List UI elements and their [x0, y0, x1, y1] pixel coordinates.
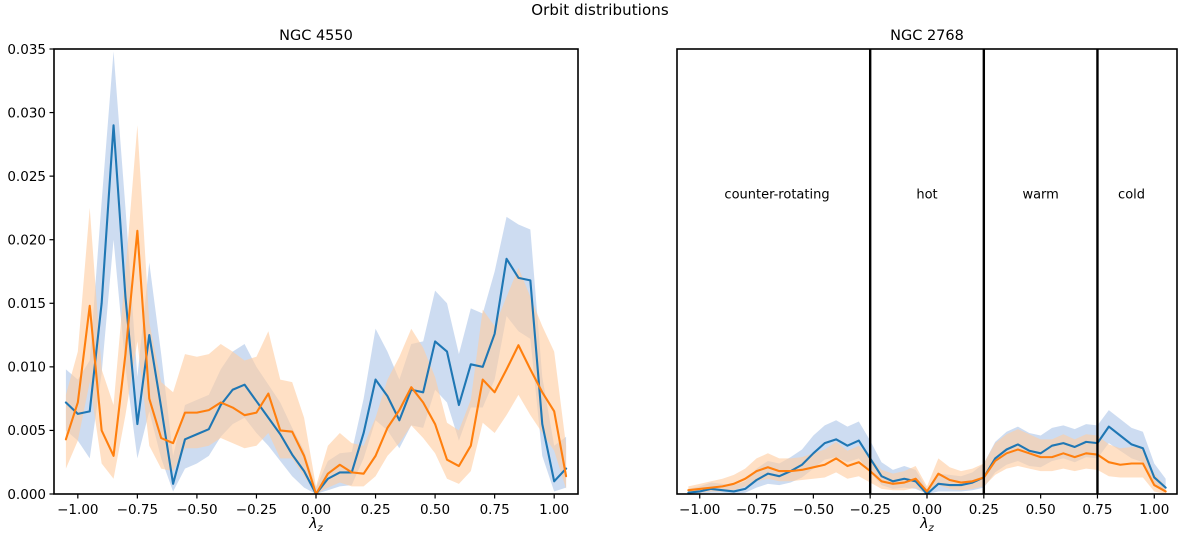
- plot-canvas: −1.00−0.75−0.50−0.250.000.250.500.751.00…: [0, 0, 1200, 541]
- panel-title-left: NGC 4550: [54, 28, 578, 44]
- figure-suptitle: Orbit distributions: [0, 1, 1200, 19]
- panel-left: −1.00−0.75−0.50−0.250.000.250.500.751.00…: [7, 42, 578, 518]
- x-axis-label-right: λz: [677, 516, 1177, 534]
- y-tick-label-6: 0.030: [7, 105, 46, 121]
- figure-orbit-distributions: Orbit distributions NGC 4550 NGC 2768 λz…: [0, 0, 1200, 541]
- y-tick-label-4: 0.020: [7, 233, 46, 249]
- panel-data-left: [66, 52, 566, 494]
- x-axis-label-left: λz: [54, 516, 578, 534]
- panel-right: counter-rotatinghotwarmcold−1.00−0.75−0.…: [677, 49, 1177, 518]
- y-tick-label-5: 0.025: [7, 169, 46, 185]
- y-tick-label-0: 0.000: [7, 487, 46, 503]
- y-tick-label-7: 0.035: [7, 42, 46, 58]
- y-tick-label-1: 0.005: [7, 423, 46, 439]
- region-label-cold: cold: [1118, 188, 1145, 203]
- panel-data-right: counter-rotatinghotwarmcold: [688, 49, 1165, 494]
- panel-title-right: NGC 2768: [677, 28, 1177, 44]
- region-label-warm: warm: [1022, 188, 1058, 203]
- region-label-hot: hot: [916, 188, 937, 203]
- y-tick-label-3: 0.015: [7, 296, 46, 312]
- region-label-counter-rotating: counter-rotating: [724, 188, 829, 203]
- y-tick-label-2: 0.010: [7, 360, 46, 376]
